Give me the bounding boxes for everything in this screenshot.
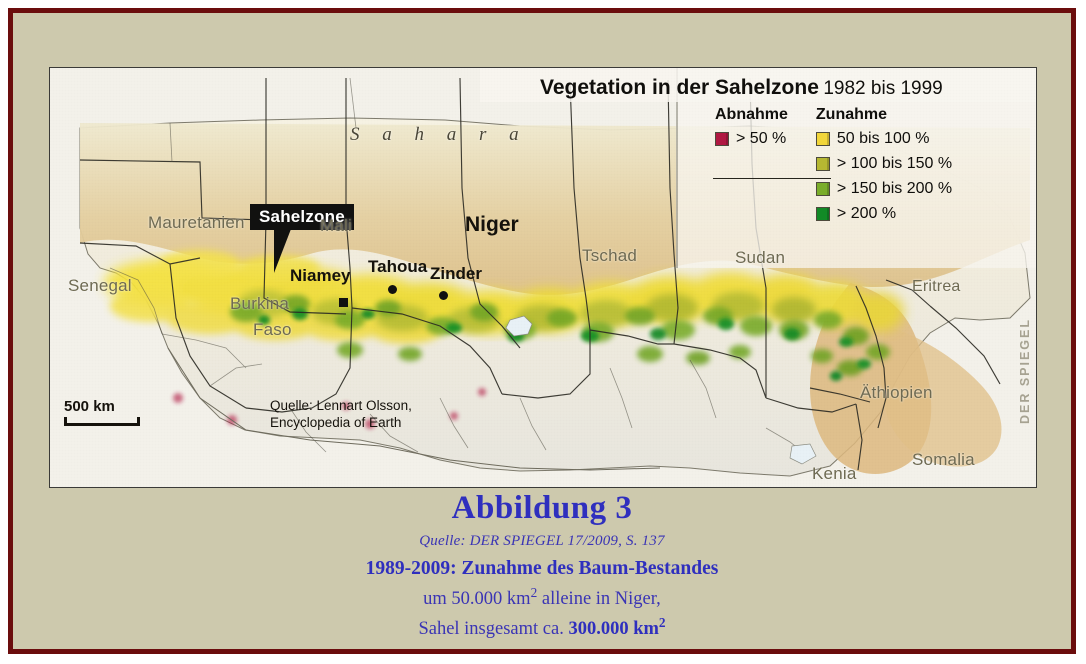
caption-line-2-pre: um 50.000 km xyxy=(423,589,530,609)
caption-line-3-bold: 300.000 km2 xyxy=(568,619,665,639)
scale-bar: 500 km xyxy=(64,398,140,426)
legend-swatch-increase-2 xyxy=(816,182,830,196)
legend-label-increase-1: > 100 bis 150 % xyxy=(837,155,952,173)
caption-line-3-pre: Sahel insgesamt ca. xyxy=(418,619,568,639)
sahelzone-callout: Sahelzone xyxy=(250,204,354,230)
legend-label-increase-0: 50 bis 100 % xyxy=(837,130,930,148)
legend-item-increase-0: 50 bis 100 % xyxy=(816,130,952,148)
legend-swatch-increase-1 xyxy=(816,157,830,171)
map-legend: Abnahme > 50 % Zunahme 50 bis 100 % > 10… xyxy=(715,106,952,230)
legend-item-increase-1: > 100 bis 150 % xyxy=(816,155,952,173)
legend-item-increase-2: > 150 bis 200 % xyxy=(816,180,952,198)
legend-swatch-increase-3 xyxy=(816,207,830,221)
caption-line-3-bold-text: 300.000 km xyxy=(568,619,658,639)
map-source-line2: Encyclopedia of Earth xyxy=(270,415,412,432)
caption-line-2: um 50.000 km2 alleine in Niger, xyxy=(13,585,1071,610)
legend-label-increase-3: > 200 % xyxy=(837,205,896,223)
caption-title: Abbildung 3 xyxy=(13,491,1071,526)
figure-frame: Vegetation in der Sahelzone 1982 bis 199… xyxy=(8,8,1076,654)
map-title: Vegetation in der Sahelzone 1982 bis 199… xyxy=(540,76,943,100)
caption-line-1: 1989-2009: Zunahme des Baum-Bestandes xyxy=(13,558,1071,580)
legend-column-increase: Zunahme 50 bis 100 % > 100 bis 150 % > 1… xyxy=(816,106,952,230)
caption-line-3: Sahel insgesamt ca. 300.000 km2 xyxy=(13,615,1071,640)
map-title-main: Vegetation in der Sahelzone xyxy=(540,76,819,99)
scale-bar-graphic xyxy=(64,417,140,426)
caption-line-2-post: alleine in Niger, xyxy=(537,589,661,609)
legend-heading-increase: Zunahme xyxy=(816,106,952,124)
map-source-line1: Quelle: Lennart Olsson, xyxy=(270,398,412,415)
map-title-years: 1982 bis 1999 xyxy=(823,78,942,99)
scale-bar-label: 500 km xyxy=(64,398,140,415)
legend-item-decrease-0: > 50 % xyxy=(715,130,788,148)
publisher-credit: DER SPIEGEL xyxy=(1018,318,1032,424)
caption-line-3-bold-sup: 2 xyxy=(659,615,666,630)
figure-caption: Abbildung 3 Quelle: DER SPIEGEL 17/2009,… xyxy=(13,491,1071,640)
legend-label-increase-2: > 150 bis 200 % xyxy=(837,180,952,198)
caption-source: Quelle: DER SPIEGEL 17/2009, S. 137 xyxy=(13,533,1071,550)
legend-column-decrease: Abnahme > 50 % xyxy=(715,106,788,230)
map-figure: Vegetation in der Sahelzone 1982 bis 199… xyxy=(49,67,1037,488)
callout-label: Sahelzone xyxy=(250,204,354,230)
legend-swatch-increase-0 xyxy=(816,132,830,146)
legend-swatch-decrease-0 xyxy=(715,132,729,146)
legend-label-decrease-0: > 50 % xyxy=(736,130,786,148)
legend-heading-decrease: Abnahme xyxy=(715,106,788,124)
map-source: Quelle: Lennart Olsson, Encyclopedia of … xyxy=(270,398,412,432)
legend-item-increase-3: > 200 % xyxy=(816,205,952,223)
callout-pointer-icon xyxy=(274,229,291,273)
